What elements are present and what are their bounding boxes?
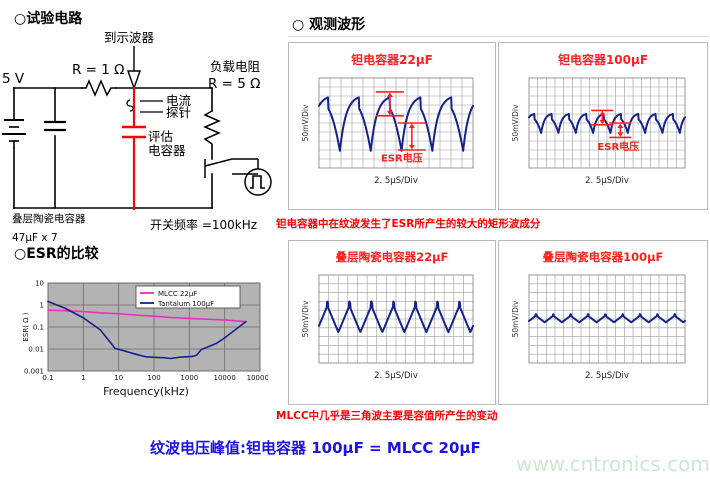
supply-voltage-label: 5 V <box>2 71 25 87</box>
svg-text:50mV/Div: 50mV/Div <box>511 300 520 337</box>
panel-title-mlcc-22uf: 叠层陶瓷电容器22μF <box>289 249 495 265</box>
svg-text:0.1: 0.1 <box>33 324 44 332</box>
panel-title-tantalum-100uf: 钽电容器100μF <box>499 51 707 68</box>
svg-text:ESR电压: ESR电压 <box>597 140 639 153</box>
load-resistor-value: R = 5 Ω <box>208 76 260 92</box>
panel-title-mlcc-100uf: 叠层陶瓷电容器100μF <box>499 249 707 265</box>
circuit-section-header: ○试验电路 <box>14 8 82 28</box>
svg-text:100: 100 <box>147 374 160 382</box>
header-divider <box>288 36 708 37</box>
panel-title-tantalum-22uf: 钽电容器22μF <box>289 51 495 68</box>
svg-text:2. 5μS/Div: 2. 5μS/Div <box>585 176 629 186</box>
svg-text:10000: 10000 <box>214 374 236 382</box>
waveform-section-header: ○ 观测波形 <box>292 14 365 34</box>
svg-text:0.1: 0.1 <box>42 374 53 382</box>
svg-text:0.001: 0.001 <box>24 368 44 376</box>
svg-text:10: 10 <box>114 374 123 382</box>
svg-text:1: 1 <box>40 302 44 310</box>
svg-text:1000: 1000 <box>180 374 198 382</box>
dut-label-line1: 评估 <box>148 129 173 144</box>
to-oscilloscope-label: 到示波器 <box>104 30 155 45</box>
watermark: www.cntronics.com <box>516 452 710 476</box>
svg-text:1: 1 <box>81 374 85 382</box>
svg-text:Tantalum 100μF: Tantalum 100μF <box>157 300 214 308</box>
svg-text:ESR( Ω ): ESR( Ω ) <box>22 312 30 341</box>
caption-mlcc: MLCC中几乎是三角波主要是容值所产生的变动 <box>276 408 498 423</box>
svg-text:50mV/Div: 50mV/Div <box>511 104 520 141</box>
probe-label: 探针 <box>166 105 191 120</box>
svg-text:2. 5μS/Div: 2. 5μS/Div <box>374 371 418 381</box>
svg-text:50mV/Div: 50mV/Div <box>301 104 310 141</box>
esr-comparison-chart: 1010.10.010.0010.1110100100010000100000F… <box>18 275 268 400</box>
svg-text:2. 5μS/Div: 2. 5μS/Div <box>585 371 629 381</box>
svg-text:ESR电压: ESR电压 <box>381 152 423 165</box>
load-resistor-label: 负载电阻 <box>210 59 261 74</box>
svg-text:MLCC 22μF: MLCC 22μF <box>158 290 197 298</box>
switching-frequency-label: 开关频率 =100kHz <box>150 216 257 233</box>
svg-text:0.01: 0.01 <box>28 346 44 354</box>
caption-tantalum: 钽电容器中在纹波发生了ESR所产生的较大的矩形波成分 <box>276 216 540 231</box>
bottom-cap-label-line1: 叠层陶瓷电容器 <box>12 212 86 225</box>
waveform-panel-tantalum-22uf: 钽电容器22μF 50mV/Div2. 5μS/DivESR电压 <box>288 42 496 210</box>
svg-text:2. 5μS/Div: 2. 5μS/Div <box>374 176 418 186</box>
esr-section-header: ○ESR的比较 <box>14 243 99 263</box>
waveform-panel-tantalum-100uf: 钽电容器100μF 50mV/Div2. 5μS/DivESR电压 <box>498 42 708 210</box>
conclusion-text: 纹波电压峰值:钽电容器 100μF = MLCC 20μF <box>150 437 481 458</box>
svg-text:50mV/Div: 50mV/Div <box>301 300 310 337</box>
waveform-panel-mlcc-22uf: 叠层陶瓷电容器22μF 50mV/Div2. 5μS/Div <box>288 240 496 405</box>
dut-label-line2: 电容器 <box>148 143 186 158</box>
waveform-panel-mlcc-100uf: 叠层陶瓷电容器100μF 50mV/Div2. 5μS/Div <box>498 240 708 405</box>
svg-text:10: 10 <box>35 280 44 288</box>
svg-text:100000: 100000 <box>247 374 268 382</box>
svg-text:Frequency(kHz): Frequency(kHz) <box>103 385 189 398</box>
test-circuit-diagram: 5 V R = 1 Ω 到示波器 电流 探针 评估 电容器 负载电阻 R = 5… <box>0 26 278 226</box>
series-resistor-label: R = 1 Ω <box>72 62 124 78</box>
